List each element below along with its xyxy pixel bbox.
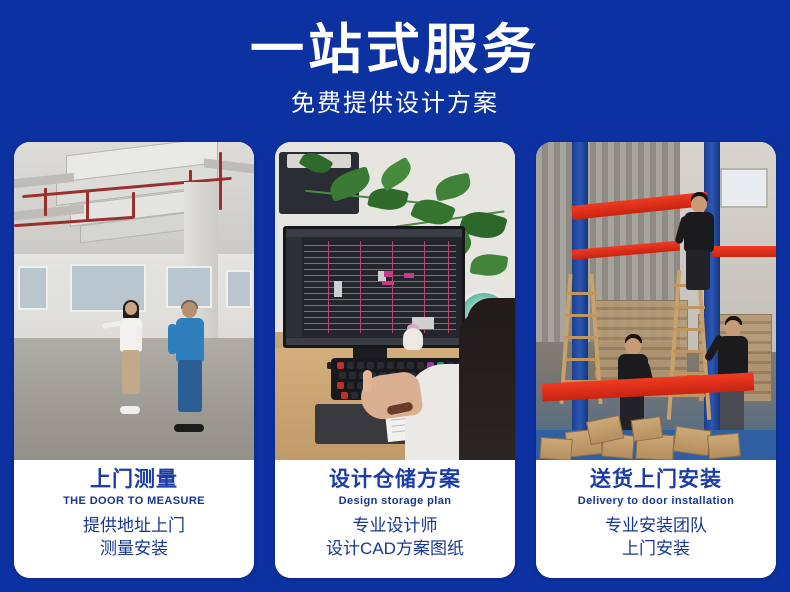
head	[125, 302, 137, 315]
cad-annotation	[404, 273, 414, 278]
card-description: 专业设计师 设计CAD方案图纸	[281, 515, 509, 561]
arm	[168, 324, 177, 354]
head	[691, 196, 707, 213]
sprinkler-drop	[44, 188, 47, 216]
card-subtitle-en: Design storage plan	[281, 495, 509, 508]
legs	[178, 360, 202, 412]
card-title: 设计仓储方案	[281, 468, 509, 492]
person-client-man	[172, 302, 210, 426]
card-subtitle-en: Delivery to door installation	[542, 495, 770, 508]
ladder-rung	[565, 336, 597, 339]
cad-annotation	[384, 271, 392, 277]
service-card-install[interactable]: 送货上门安装 Delivery to door installation 专业安…	[536, 142, 776, 578]
cardboard-box-pile	[536, 388, 776, 460]
ladder-rung	[565, 292, 597, 295]
cad-drawing-line	[304, 269, 456, 270]
service-card-measure[interactable]: 上门测量 THE DOOR TO MEASURE 提供地址上门 测量安装	[14, 142, 254, 578]
sprinkler-drop	[132, 192, 135, 218]
cad-drawing-line	[304, 293, 456, 294]
card-subtitle-en: THE DOOR TO MEASURE	[20, 495, 248, 508]
photo-site-measurement	[14, 142, 254, 460]
person-surveyor-woman	[114, 302, 148, 408]
cad-drawing-line	[360, 241, 361, 333]
cardboard-box	[707, 433, 741, 460]
cad-sidebar	[286, 237, 302, 337]
torso	[718, 336, 748, 376]
photo-cad-design	[275, 142, 515, 460]
ladder-rung	[673, 350, 705, 353]
cad-drawing-line	[448, 241, 449, 333]
card-caption: 设计仓储方案 Design storage plan 专业设计师 设计CAD方案…	[275, 460, 515, 578]
cad-drawing-line	[304, 251, 456, 252]
cardboard-box	[631, 416, 664, 442]
ladder-rung	[565, 358, 597, 361]
window	[18, 266, 48, 310]
head	[625, 338, 641, 355]
sprinkler-drop	[86, 190, 89, 220]
photo-rack-installation	[536, 142, 776, 460]
cad-drawing-line	[304, 311, 456, 312]
cad-drawing-line	[304, 257, 456, 258]
torso	[176, 318, 204, 362]
shoes	[174, 424, 204, 432]
card-description-line1: 专业安装团队	[542, 515, 770, 538]
card-description-line2: 设计CAD方案图纸	[281, 538, 509, 561]
sprinkler-drop	[219, 152, 222, 210]
window	[226, 270, 252, 308]
banner-header: 一站式服务 免费提供设计方案	[0, 0, 790, 140]
page-subtitle: 免费提供设计方案	[0, 79, 790, 117]
card-description: 专业安装团队 上门安装	[542, 515, 770, 561]
card-caption: 送货上门安装 Delivery to door installation 专业安…	[536, 460, 776, 578]
cad-drawing-line	[304, 287, 456, 288]
promo-banner: 一站式服务 免费提供设计方案	[0, 0, 790, 592]
cad-drawing-line	[304, 245, 456, 246]
cad-drawing-line	[304, 305, 456, 306]
card-caption: 上门测量 THE DOOR TO MEASURE 提供地址上门 测量安装	[14, 460, 254, 578]
card-title: 送货上门安装	[542, 468, 770, 492]
cad-element	[334, 281, 342, 297]
legs	[122, 350, 140, 394]
cardboard-box	[672, 426, 711, 457]
head	[182, 302, 197, 318]
cad-drawing-line	[304, 281, 456, 282]
card-description: 提供地址上门 测量安装	[20, 515, 248, 561]
cad-drawing-line	[304, 263, 456, 264]
cad-drawing-line	[304, 299, 456, 300]
cad-drawing-line	[328, 241, 329, 333]
card-title: 上门测量	[20, 468, 248, 492]
head	[725, 320, 741, 337]
cad-annotation	[382, 281, 394, 285]
cad-toolbar	[286, 229, 462, 237]
ladder-rung	[673, 328, 705, 331]
card-description-line1: 提供地址上门	[20, 515, 248, 538]
cad-drawing-line	[304, 329, 456, 330]
cardboard-box	[539, 437, 572, 460]
rack-beam	[712, 246, 776, 257]
service-card-list: 上门测量 THE DOOR TO MEASURE 提供地址上门 测量安装	[14, 142, 776, 578]
window	[720, 168, 768, 208]
card-description-line2: 上门安装	[542, 538, 770, 561]
cad-drawing-line	[392, 241, 393, 333]
service-card-design[interactable]: 设计仓储方案 Design storage plan 专业设计师 设计CAD方案…	[275, 142, 515, 578]
person-designer	[459, 310, 515, 460]
card-description-line1: 专业设计师	[281, 515, 509, 538]
desk-toy	[403, 328, 423, 350]
finger	[363, 370, 372, 392]
arm	[136, 326, 142, 348]
cad-status-bar	[286, 338, 462, 345]
computer-monitor	[283, 226, 465, 348]
card-description-line2: 测量安装	[20, 538, 248, 561]
ladder-rung	[673, 306, 705, 309]
shoes	[120, 406, 140, 414]
ladder-rung	[565, 314, 597, 317]
page-title: 一站式服务	[0, 0, 790, 79]
monitor-screen	[286, 229, 462, 345]
legs	[686, 250, 710, 290]
